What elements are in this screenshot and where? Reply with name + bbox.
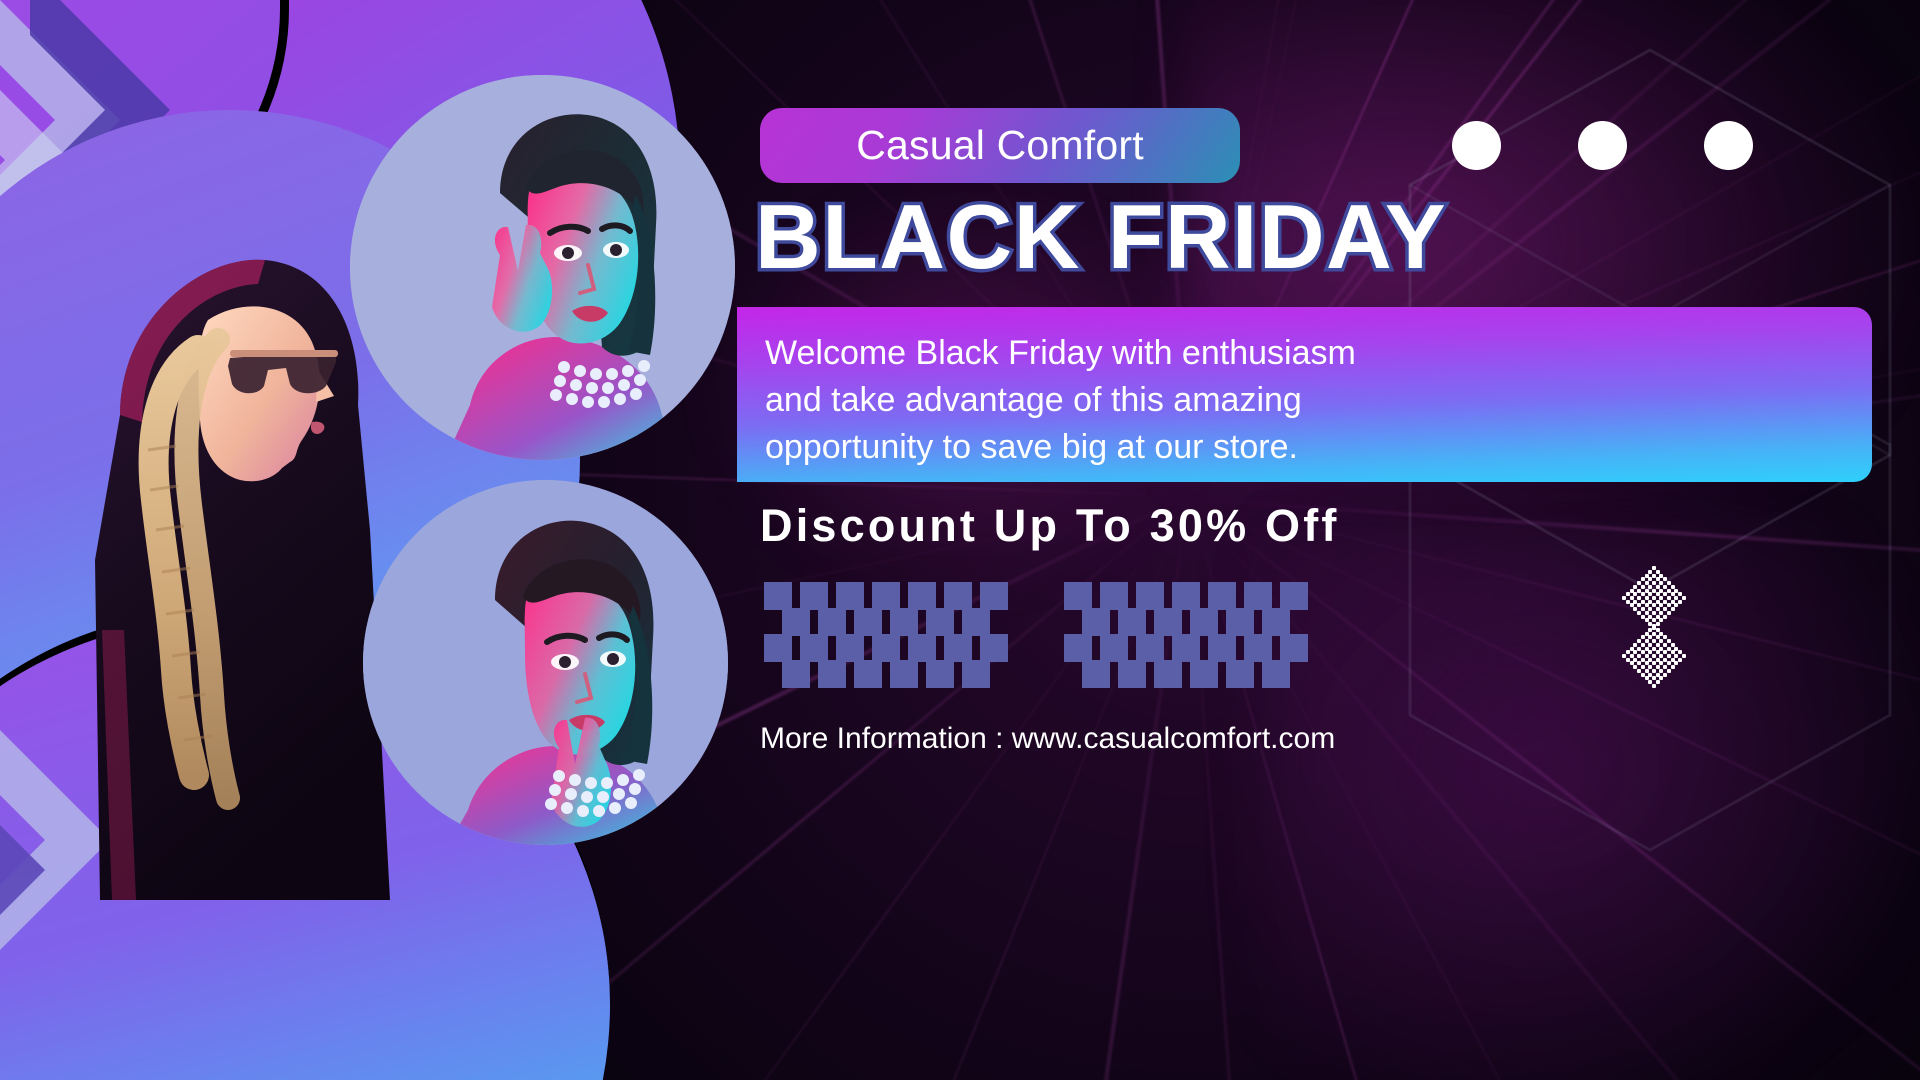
discount-headline: Discount Up To 30% Off: [760, 500, 1900, 552]
checker-square: [1100, 634, 1128, 662]
diamond-dot: [1652, 684, 1656, 688]
checker-square: [890, 660, 918, 688]
checker-square: [782, 660, 810, 688]
checker-square: [1118, 608, 1146, 636]
diamond-dot: [1667, 669, 1671, 673]
checker-square: [1136, 634, 1164, 662]
checker-square: [800, 634, 828, 662]
description-line-3: opportunity to save big at our store.: [765, 428, 1298, 466]
checker-square: [1100, 582, 1128, 610]
checker-square: [764, 634, 792, 662]
footer-more-information[interactable]: More Information : www.casualcomfort.com: [760, 722, 1335, 756]
checker-square: [1262, 608, 1290, 636]
checker-square: [1244, 634, 1272, 662]
page-title: BLACK FRIDAY: [755, 193, 1915, 283]
diamond-dot: [1678, 658, 1682, 662]
description-text: Welcome Black Friday with enthusiasm and…: [765, 330, 1525, 471]
checker-square: [944, 634, 972, 662]
circle-dot-icon: [1452, 121, 1501, 170]
checker-square: [1172, 582, 1200, 610]
diamond-dot: [1671, 607, 1675, 611]
checker-square: [944, 582, 972, 610]
model-portrait-neon-top: [350, 75, 735, 460]
checker-square: [1226, 660, 1254, 688]
checker-square: [1280, 634, 1308, 662]
checker-square: [1190, 608, 1218, 636]
diamond-dot: [1656, 680, 1660, 684]
checker-square: [1064, 634, 1092, 662]
diamond-dot: [1656, 622, 1660, 626]
circle-dot-icon: [1578, 121, 1627, 170]
diamond-dot: [1682, 596, 1686, 600]
checker-square: [854, 608, 882, 636]
checker-square: [890, 608, 918, 636]
checker-square: [854, 660, 882, 688]
diamond-dot: [1659, 676, 1663, 680]
checker-square: [1208, 582, 1236, 610]
content-column: Casual Comfort BLACK FRIDAY Welcome Blac…: [752, 0, 1920, 1080]
checker-square: [1064, 582, 1092, 610]
checker-square: [836, 582, 864, 610]
checker-square: [1190, 660, 1218, 688]
diamond-dot: [1663, 673, 1667, 677]
checker-square: [800, 582, 828, 610]
dotted-diamond-icon: [1614, 560, 1694, 690]
decor-dots-group: [1452, 110, 1852, 182]
diamond-dot: [1641, 643, 1645, 647]
checker-square: [782, 608, 810, 636]
description-line-1: Welcome Black Friday with enthusiasm: [765, 334, 1356, 372]
checker-square: [1154, 608, 1182, 636]
diamond-dot: [1671, 665, 1675, 669]
circle-dot-icon: [1704, 121, 1753, 170]
checker-square: [926, 608, 954, 636]
checkerboard-pattern-icon-2: [1064, 582, 1314, 692]
checker-square: [962, 660, 990, 688]
checker-square: [818, 660, 846, 688]
checker-square: [908, 634, 936, 662]
checker-square: [836, 634, 864, 662]
checker-square: [926, 660, 954, 688]
left-artwork: [0, 0, 770, 1080]
diamond-dot: [1674, 661, 1678, 665]
diamond-dot: [1663, 615, 1667, 619]
checker-square: [980, 634, 1008, 662]
checker-square: [1118, 660, 1146, 688]
checker-square: [1226, 608, 1254, 636]
checker-square: [1136, 582, 1164, 610]
checker-square: [1082, 660, 1110, 688]
description-panel: Welcome Black Friday with enthusiasm and…: [737, 307, 1872, 482]
model-portrait-neon-bottom: [363, 480, 728, 845]
diamond-dot: [1667, 611, 1671, 615]
checker-square: [872, 582, 900, 610]
diamond-dot: [1641, 585, 1645, 589]
diamond-dot: [1659, 618, 1663, 622]
checker-square: [1262, 660, 1290, 688]
brand-badge[interactable]: Casual Comfort: [760, 108, 1240, 183]
checker-square: [1154, 660, 1182, 688]
checker-square: [908, 582, 936, 610]
brand-badge-label: Casual Comfort: [856, 122, 1144, 169]
diamond-dot: [1682, 654, 1686, 658]
banner-canvas: Casual Comfort BLACK FRIDAY Welcome Blac…: [0, 0, 1920, 1080]
checker-square: [980, 582, 1008, 610]
checker-square: [1172, 634, 1200, 662]
diamond-dot: [1678, 600, 1682, 604]
checker-square: [764, 582, 792, 610]
checker-square: [1280, 582, 1308, 610]
checker-square: [1244, 582, 1272, 610]
checker-square: [818, 608, 846, 636]
diamond-dot: [1674, 603, 1678, 607]
checker-square: [962, 608, 990, 636]
checker-square: [872, 634, 900, 662]
description-line-2: and take advantage of this amazing: [765, 381, 1302, 419]
checker-square: [1208, 634, 1236, 662]
checker-square: [1082, 608, 1110, 636]
